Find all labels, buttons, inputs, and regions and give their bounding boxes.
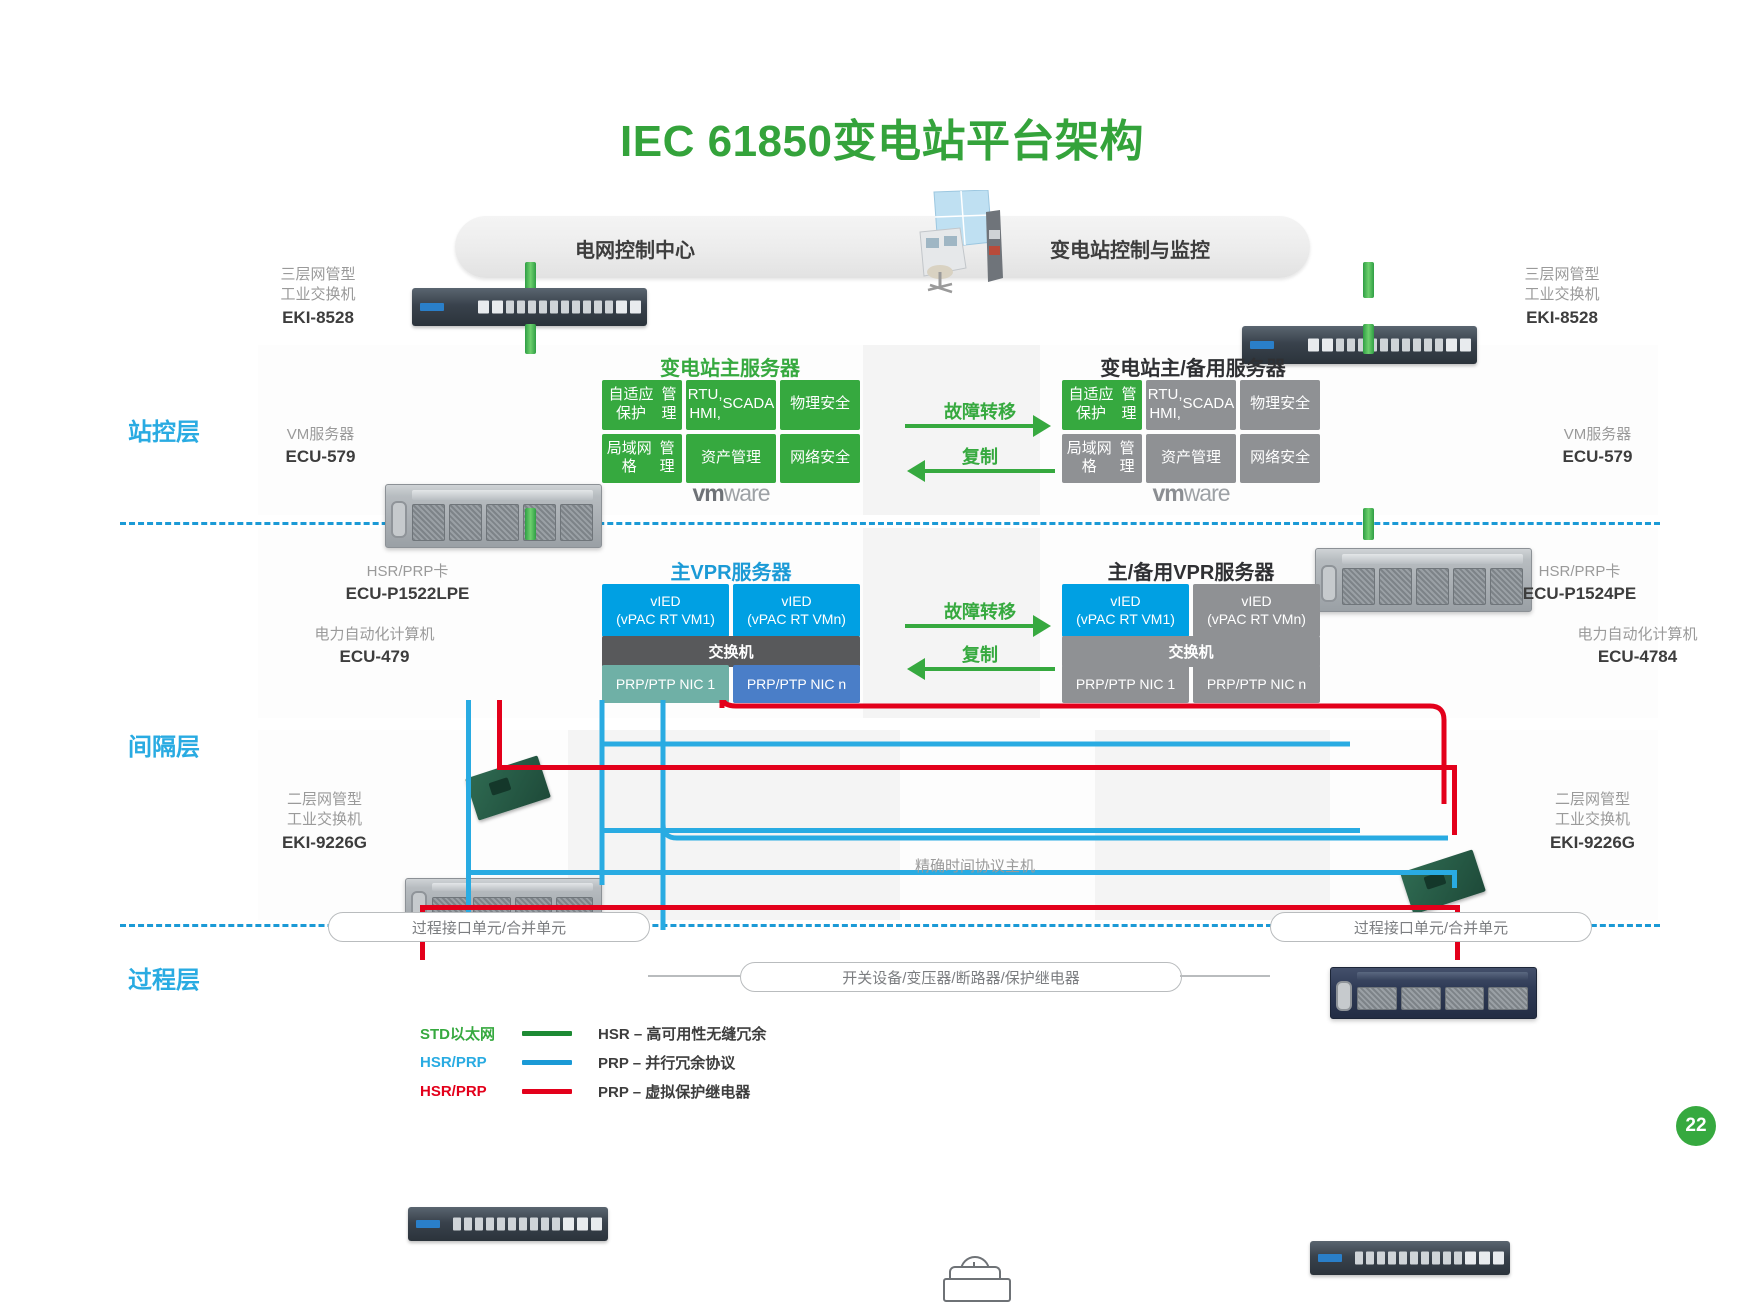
vied-name: vIED [781,593,811,609]
station-left-switch-label: 三层网管型 工业交换机 EKI-8528 [268,265,368,329]
label-model: EKI-9226G [1540,832,1645,855]
rack-ear [391,501,407,538]
ptp-chassis-front [943,1278,1011,1302]
legend-description: PRP – 虚拟保护继电器 [598,1081,750,1102]
label-line2: 工业交换机 [1540,810,1645,830]
matrix-cell-line: 资产 [1161,449,1191,468]
bay-primary-switch-bar: 交换机 [602,636,860,667]
station-left-server-device[interactable] [385,484,602,548]
label-line1: HSR/PRP卡 [1497,562,1662,582]
matrix-cell: 自适应保护管理 [602,380,682,430]
vied-detail: (vPAC RT VMn) [1207,611,1306,627]
matrix-cell: RTU, HMI,SCADA [686,380,776,430]
nic-cell: PRP/PTP NIC n [1193,665,1320,703]
vied-detail: (vPAC RT VM1) [616,611,715,627]
operator-console-illustration [900,190,1010,295]
bay-left-computer-label: 电力自动化计算机 ECU-479 [282,625,467,669]
label-model: EKI-8528 [1512,307,1612,330]
nic-cell: PRP/PTP NIC 1 [1062,665,1189,703]
matrix-cell-line: 安全 [1280,395,1310,414]
label-line1: 三层网管型 [1512,265,1612,285]
station-standby-vendor-logo: vmware [1062,480,1320,507]
bay-failover-arrow-line [905,624,1035,628]
station-right-switch-downlink [1363,324,1374,354]
station-left-server-label: VM服务器 ECU-579 [268,425,373,469]
nic-cell: PRP/PTP NIC n [733,665,860,703]
switch-ports [478,301,641,314]
label-line1: HSR/PRP卡 [325,562,490,582]
station-primary-title: 变电站主服务器 [600,352,860,381]
station-replicate-arrow-head [907,460,925,482]
matrix-cell: 局域网格管理 [1062,434,1142,484]
label-line1: VM服务器 [1545,425,1650,445]
top-header-bar: 电网控制中心 变电站控制与监控 [455,216,1310,278]
matrix-cell: 局域网格管理 [602,434,682,484]
matrix-cell-line: 管理 [1191,449,1221,468]
separator-station-bay [120,522,1660,525]
process-right-switch-label: 二层网管型 工业交换机 EKI-9226G [1540,790,1645,854]
label-line1: VM服务器 [268,425,373,445]
legend-tag: HSR/PRP [420,1083,516,1100]
bay-right-uplink [1363,508,1374,540]
matrix-cell-line: 网络 [1250,449,1280,468]
legend-description: PRP – 并行冗余协议 [598,1052,735,1073]
label-line2: 工业交换机 [268,285,368,305]
process-right-pill[interactable]: 过程接口单元/合并单元 [1270,912,1592,942]
bay-replicate-arrow-line [925,667,1055,671]
legend: STD以太网HSR – 高可用性无缝冗余HSR/PRPPRP – 并行冗余协议H… [420,1020,766,1107]
station-left-switch-downlink [525,324,536,354]
switch-brand-logo [1318,1254,1342,1262]
rack-front-strip [412,490,593,500]
process-left-switch-label: 二层网管型 工业交换机 EKI-9226G [272,790,377,854]
bay-right-card-label: HSR/PRP卡 ECU-P1524PE [1497,562,1662,606]
label-model: ECU-P1524PE [1497,583,1662,606]
vied-detail: (vPAC RT VMn) [747,611,846,627]
process-left-switch-device[interactable] [408,1207,608,1241]
vied-cell: vIED(vPAC RT VM1) [602,584,729,637]
rack-front-strip [1342,554,1523,564]
label-line1: 二层网管型 [272,790,377,810]
network-cabling [0,700,1764,990]
matrix-cell-line: 管理 [731,449,761,468]
legend-tag: HSR/PRP [420,1054,516,1071]
cable-blue-mid-horizontal [600,828,1360,833]
matrix-cell: 网络安全 [1240,434,1320,484]
page-title: IEC 61850变电站平台架构 [0,105,1764,169]
bay-failover-arrow-head [1033,615,1051,637]
station-right-switch-uplink [1363,262,1374,298]
matrix-cell-line: 安全 [1280,449,1310,468]
label-line1: 二层网管型 [1540,790,1645,810]
process-bottom-pill[interactable]: 开关设备/变压器/断路器/保护继电器 [740,962,1182,992]
vied-cell: vIED(vPAC RT VMn) [1193,584,1320,637]
bay-primary-nic-row: PRP/PTP NIC 1PRP/PTP NIC n [602,665,860,703]
bay-left-card-label: HSR/PRP卡 ECU-P1522LPE [325,562,490,606]
label-model: EKI-8528 [268,307,368,330]
station-left-switch-device[interactable] [412,288,647,326]
vied-name: vIED [650,593,680,609]
legend-description: HSR – 高可用性无缝冗余 [598,1023,766,1044]
switch-brand-logo [1250,341,1274,349]
vied-cell: vIED(vPAC RT VMn) [733,584,860,637]
matrix-cell-line: 网络 [790,449,820,468]
matrix-cell-line: RTU, HMI, [688,386,723,424]
cable-blue-lower-right-vertical [1452,870,1457,888]
legend-line-swatch [522,1031,572,1036]
station-standby-title: 变电站主/备用服务器 [1048,352,1338,381]
label-line1: 电力自动化计算机 [282,625,467,645]
legend-tag: STD以太网 [420,1023,516,1044]
label-model: ECU-4784 [1545,646,1730,669]
station-primary-vendor-logo: vmware [602,480,860,507]
vied-detail: (vPAC RT VM1) [1076,611,1175,627]
matrix-cell: 资产管理 [1146,434,1236,484]
bay-standby-nic-row: PRP/PTP NIC 1PRP/PTP NIC n [1062,665,1320,703]
cable-blue-left-vertical [466,700,471,918]
process-left-pill[interactable]: 过程接口单元/合并单元 [328,912,650,942]
label-line1: 电力自动化计算机 [1545,625,1730,645]
station-failover-arrow-line [905,424,1035,428]
substation-control-label: 变电站控制与监控 [1050,234,1210,263]
station-primary-matrix: 自适应保护管理RTU, HMI,SCADA物理安全局域网格管理资产管理网络安全 [602,380,860,475]
switch-ports [453,1218,602,1231]
switch-brand-logo [420,303,444,311]
matrix-cell: 网络安全 [780,434,860,484]
cable-red-left-vertical [497,700,502,768]
label-line2: 工业交换机 [272,810,377,830]
switch-ports [1308,339,1471,352]
cable-red-right-vertical [1452,765,1457,835]
pill-connector-left [648,975,740,977]
label-line2: 工业交换机 [1512,285,1612,305]
legend-row: HSR/PRPPRP – 虚拟保护继电器 [420,1078,766,1104]
matrix-cell: 物理安全 [1240,380,1320,430]
bay-standby-switch-bar: 交换机 [1062,636,1320,667]
label-model: EKI-9226G [272,832,377,855]
label-model: ECU-P1522LPE [325,583,490,606]
legend-row: STD以太网HSR – 高可用性无缝冗余 [420,1020,766,1046]
grid-control-center-label: 电网控制中心 [575,234,695,263]
page-number-badge: 22 [1676,1106,1716,1146]
matrix-cell-line: 资产 [701,449,731,468]
label-model: ECU-479 [282,646,467,669]
matrix-cell: 物理安全 [780,380,860,430]
matrix-cell-line: 物理 [790,395,820,414]
bay-standby-title: 主/备用VPR服务器 [1062,556,1320,585]
station-standby-matrix: 自适应保护管理RTU, HMI,SCADA物理安全局域网格管理资产管理网络安全 [1062,380,1320,475]
matrix-cell: 资产管理 [686,434,776,484]
matrix-cell: 自适应保护管理 [1062,380,1142,430]
matrix-cell-line: 自适应保护 [1064,386,1118,424]
legend-line-swatch [522,1089,572,1094]
station-replicate-arrow-line [925,469,1055,473]
switch-brand-logo [416,1220,440,1228]
cable-red-left-elbow [497,765,1457,770]
rack-drive-bays [1357,987,1528,1010]
pill-connector-right [1180,975,1270,977]
matrix-cell-line: 局域网格 [604,440,655,478]
matrix-cell-line: SCADA [723,395,775,414]
process-right-switch-device[interactable] [1310,1241,1510,1275]
vied-name: vIED [1110,593,1140,609]
matrix-cell-line: 局域网格 [1064,440,1115,478]
bay-primary-title: 主VPR服务器 [602,556,860,585]
rack-ear [1321,565,1337,602]
ptp-host-label: 精确时间协议主机 [880,855,1070,876]
rack-drive-bays [412,504,593,541]
matrix-cell-line: 安全 [820,449,850,468]
label-model: ECU-579 [1545,446,1650,469]
matrix-cell-line: 自适应保护 [604,386,658,424]
matrix-cell-line: 管理 [655,440,680,478]
bay-right-computer-label: 电力自动化计算机 ECU-4784 [1545,625,1730,669]
label-model: ECU-579 [268,446,373,469]
bay-left-uplink [525,508,536,540]
matrix-cell-line: 管理 [1118,386,1140,424]
layer-title-station: 站控层 [128,412,200,447]
legend-row: HSR/PRPPRP – 并行冗余协议 [420,1049,766,1075]
bay-standby-vied-row: vIED(vPAC RT VM1)vIED(vPAC RT VMn) [1062,584,1320,637]
matrix-cell-line: 管理 [1115,440,1140,478]
matrix-cell-line: SCADA [1183,395,1235,414]
matrix-cell-line: 安全 [820,395,850,414]
ptp-host-device[interactable] [943,1262,1007,1302]
station-right-switch-label: 三层网管型 工业交换机 EKI-8528 [1512,265,1612,329]
cable-red-lower-horizontal [420,905,1460,910]
matrix-cell-line: 物理 [1250,395,1280,414]
vied-name: vIED [1241,593,1271,609]
matrix-cell-line: RTU, HMI, [1148,386,1183,424]
rack-drive-bays [1342,568,1523,605]
switch-ports [1355,1252,1504,1265]
matrix-cell: RTU, HMI,SCADA [1146,380,1236,430]
legend-line-swatch [522,1060,572,1065]
bay-replicate-arrow-head [907,658,925,680]
station-failover-arrow-head [1033,415,1051,437]
vied-cell: vIED(vPAC RT VM1) [1062,584,1189,637]
bay-primary-vied-row: vIED(vPAC RT VM1)vIED(vPAC RT VMn) [602,584,860,637]
station-right-server-label: VM服务器 ECU-579 [1545,425,1650,469]
matrix-cell-line: 管理 [658,386,680,424]
nic-cell: PRP/PTP NIC 1 [602,665,729,703]
label-line1: 三层网管型 [268,265,368,285]
